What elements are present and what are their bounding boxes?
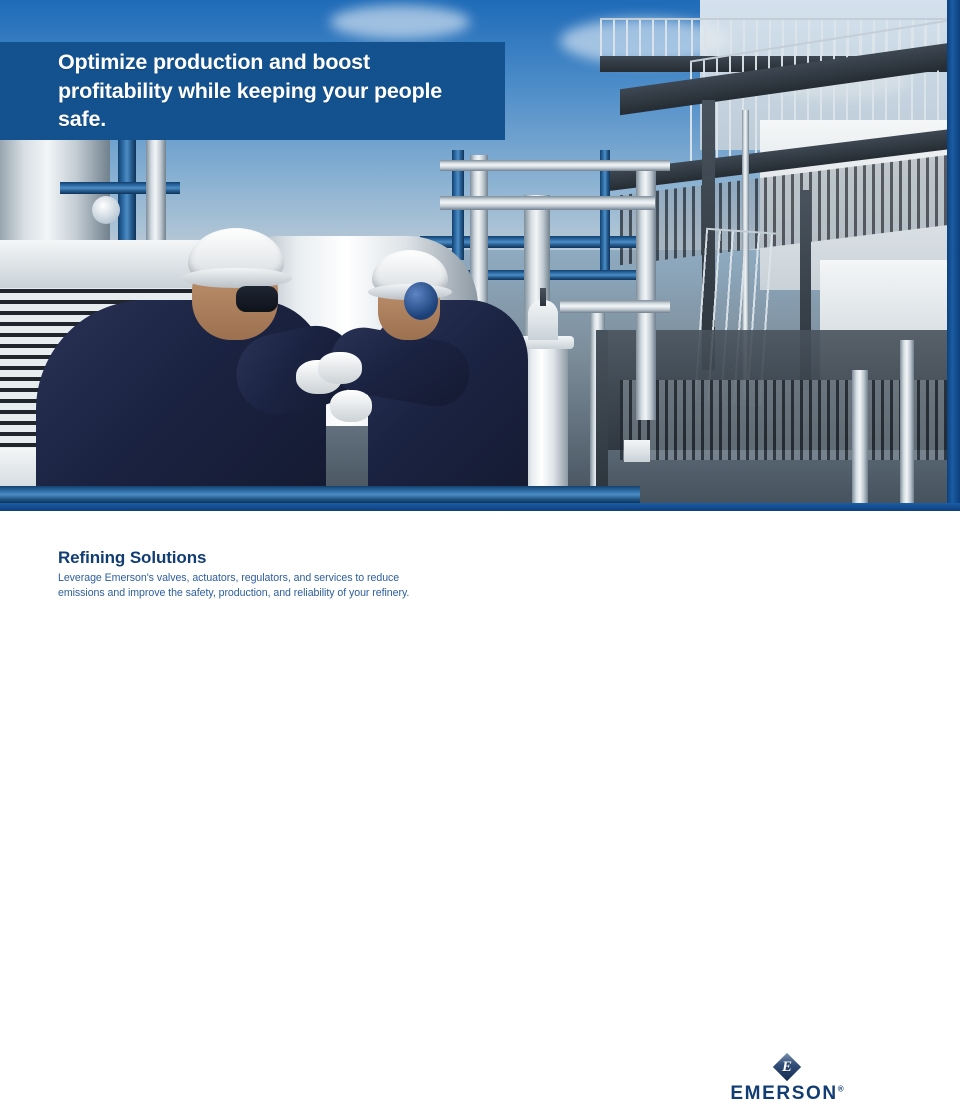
photo-bottom-accent-bar [0,503,960,511]
vessel-bonnet [528,300,558,340]
worker-left-hat-brim [182,268,292,288]
vertical-pipe [852,370,868,503]
emerson-diamond-mark-icon: E [774,1054,800,1080]
worker-right-glove [330,390,372,422]
foreground-blue-rail [0,486,640,503]
headline-banner: Optimize production and boost profitabil… [0,42,505,140]
instrument-box [624,440,650,462]
worker-right-glove [318,352,362,384]
cloud-shape [330,5,470,39]
worker-left-safety-glasses [236,286,278,312]
photo-right-accent-bar [947,0,960,511]
footer-title: Refining Solutions [58,548,578,568]
headline-text: Optimize production and boost profitabil… [58,48,479,134]
vessel-stem [540,288,546,306]
gauge-dial [92,196,120,224]
header-pipe [560,300,670,313]
footer-subtitle-line-1: Leverage Emerson's valves, actuators, re… [58,571,578,586]
footer-copy-block: Refining Solutions Leverage Emerson's va… [58,548,578,601]
logo-e-glyph: E [774,1054,800,1080]
gauge-pipe [146,140,166,250]
emerson-logo: E EMERSON® [722,1054,852,1103]
footer-subtitle-line-2: emissions and improve the safety, produc… [58,586,578,601]
emerson-wordmark: EMERSON® [722,1084,852,1103]
registered-trademark-symbol: ® [838,1085,844,1094]
header-pipe [440,196,655,210]
worker-right-ear-muff [404,282,438,320]
advertisement-page: Optimize production and boost profitabil… [0,0,960,640]
wordmark-text: EMERSON [730,1083,837,1104]
header-pipe [440,160,670,171]
vertical-pipe [900,340,914,503]
footer: Refining Solutions Leverage Emerson's va… [0,511,960,640]
lower-grating [620,380,947,460]
dark-support [596,330,608,503]
